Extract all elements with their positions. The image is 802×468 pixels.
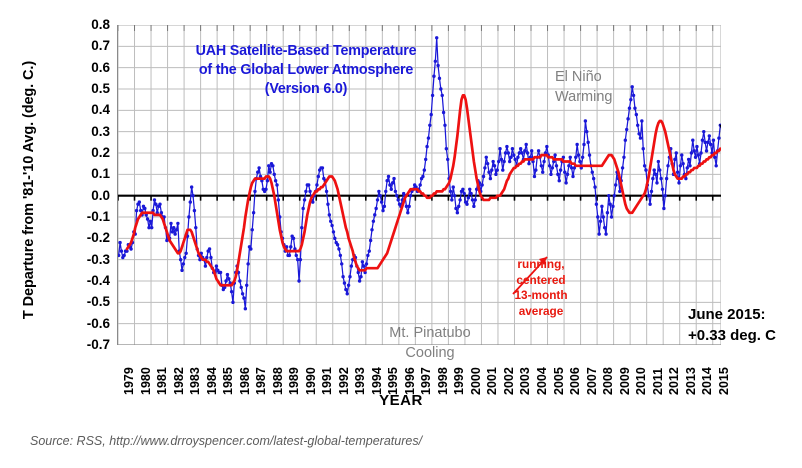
elnino-line: Warming xyxy=(555,87,685,107)
running-line: average xyxy=(481,304,601,320)
y-tick-label: 0.2 xyxy=(64,147,110,159)
x-tick-label: 1993 xyxy=(353,367,367,395)
x-tick-label: 2008 xyxy=(601,367,615,395)
x-tick-label: 1994 xyxy=(370,367,384,395)
charttitle-line: (Version 6.0) xyxy=(126,80,486,99)
plot-area: UAH Satellite-Based Temperatureof the Gl… xyxy=(117,25,720,345)
y-axis-title: T Departure from '81-'10 Avg. (deg. C.) xyxy=(21,25,37,355)
x-tick-label: 2004 xyxy=(535,367,549,395)
x-tick-label: 2014 xyxy=(700,367,714,395)
running-line: running, xyxy=(481,257,601,273)
y-tick-label: 0.1 xyxy=(64,168,110,180)
y-tick-label: 0.0 xyxy=(64,190,110,202)
y-tick-label: 0.4 xyxy=(64,104,110,116)
y-tick-label: 0.6 xyxy=(64,62,110,74)
y-tick-label: -0.5 xyxy=(64,296,110,308)
x-axis-title: YEAR xyxy=(0,392,802,409)
y-tick-label: -0.3 xyxy=(64,254,110,266)
june2015-line: June 2015: xyxy=(688,304,802,325)
x-tick-label: 1987 xyxy=(254,367,268,395)
y-tick-label: -0.7 xyxy=(64,339,110,351)
x-tick-label: 1988 xyxy=(271,367,285,395)
x-tick-label: 1995 xyxy=(386,367,400,395)
june2015-line: +0.33 deg. C xyxy=(688,325,802,346)
x-tick-label: 1979 xyxy=(122,367,136,395)
annotation-june-2015: June 2015:+0.33 deg. C xyxy=(688,304,802,346)
x-tick-label: 2000 xyxy=(469,367,483,395)
x-tick-label: 1992 xyxy=(337,367,351,395)
x-tick-label: 1991 xyxy=(320,367,334,395)
y-tick-label: 0.7 xyxy=(64,40,110,52)
x-tick-label: 2007 xyxy=(585,367,599,395)
annotation-el-nino: El NiñoWarming xyxy=(555,67,685,107)
elnino-line: El Niño xyxy=(555,67,685,87)
x-tick-label: 2013 xyxy=(684,367,698,395)
x-tick-label: 1981 xyxy=(155,367,169,395)
x-tick-label: 2006 xyxy=(568,367,582,395)
x-tick-label: 1989 xyxy=(287,367,301,395)
x-tick-label: 1997 xyxy=(419,367,433,395)
x-tick-label: 2005 xyxy=(552,367,566,395)
x-tick-label: 1990 xyxy=(304,367,318,395)
y-tick-label: -0.6 xyxy=(64,318,110,330)
x-tick-label: 1996 xyxy=(403,367,417,395)
x-tick-label: 2012 xyxy=(667,367,681,395)
running-line: 13-month xyxy=(481,288,601,304)
x-tick-label: 2015 xyxy=(717,367,731,395)
y-tick-label: 0.8 xyxy=(64,19,110,31)
y-tick-label: -0.2 xyxy=(64,232,110,244)
x-tick-label: 2009 xyxy=(618,367,632,395)
running-line: centered xyxy=(481,273,601,289)
x-tick-label: 1982 xyxy=(172,367,186,395)
source-caption: Source: RSS, http://www.drroyspencer.com… xyxy=(30,434,422,448)
y-tick-label: 0.3 xyxy=(64,126,110,138)
y-tick-label: 0.5 xyxy=(64,83,110,95)
x-tick-label: 1984 xyxy=(205,367,219,395)
x-tick-label: 1985 xyxy=(221,367,235,395)
x-tick-label: 2002 xyxy=(502,367,516,395)
annotation-running-average: running,centered13-monthaverage xyxy=(481,257,601,319)
x-tick-label: 1986 xyxy=(238,367,252,395)
x-tick-label: 2010 xyxy=(634,367,648,395)
y-tick-label: -0.4 xyxy=(64,275,110,287)
x-tick-label: 2003 xyxy=(518,367,532,395)
chart-figure: T Departure from '81-'10 Avg. (deg. C.) … xyxy=(0,0,802,468)
pinatubo-line: Mt. Pinatubo xyxy=(350,323,510,343)
charttitle-line: of the Global Lower Atmosphere xyxy=(126,61,486,80)
x-tick-label: 2001 xyxy=(485,367,499,395)
x-tick-label: 1983 xyxy=(188,367,202,395)
x-tick-label: 1980 xyxy=(139,367,153,395)
x-tick-label: 1999 xyxy=(452,367,466,395)
x-tick-label: 2011 xyxy=(651,368,665,395)
x-tick-label: 1998 xyxy=(436,367,450,395)
chart-title: UAH Satellite-Based Temperatureof the Gl… xyxy=(126,42,486,99)
charttitle-line: UAH Satellite-Based Temperature xyxy=(126,42,486,61)
y-tick-label: -0.1 xyxy=(64,211,110,223)
